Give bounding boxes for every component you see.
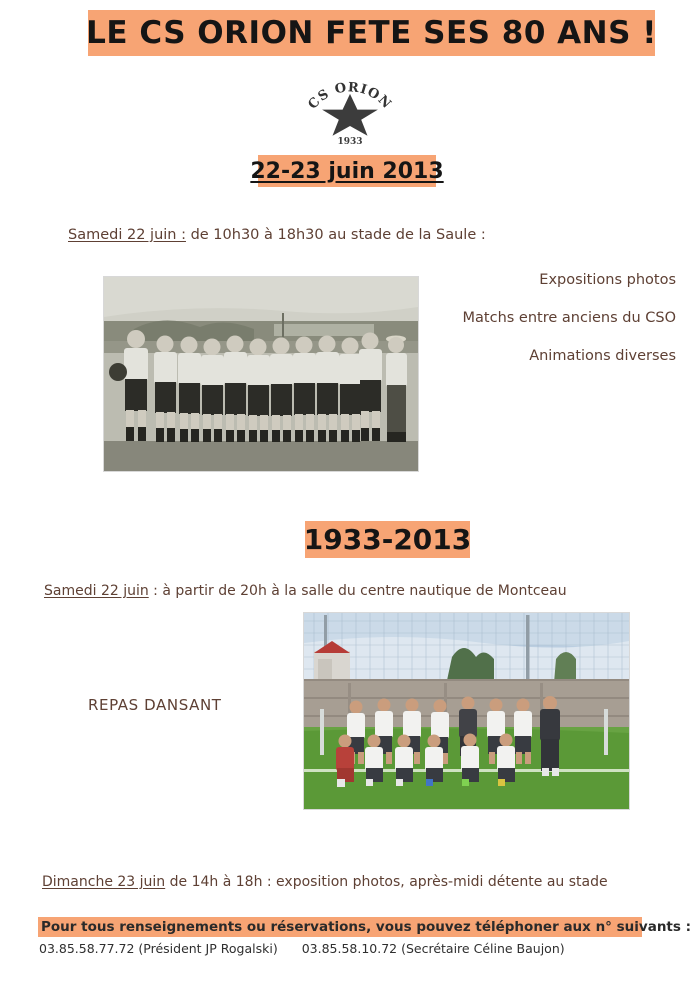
saturday-daytime-line: Samedi 22 juin : de 10h30 à 18h30 au sta…	[68, 227, 486, 243]
logo-founded-year: 1933	[337, 137, 362, 147]
modern-photo-artwork	[304, 613, 629, 809]
page-title: LE CS ORION FETE SES 80 ANS !	[86, 15, 657, 51]
club-logo: CS ORION 1933	[298, 72, 402, 148]
phone-numbers: 03.85.58.77.72 (Président JP Rogalski)03…	[39, 941, 565, 956]
saturday-daytime-lead: Samedi 22 juin :	[68, 227, 186, 243]
sunday-detail: de 14h à 18h : exposition photos, après-…	[165, 874, 607, 890]
date-banner: 22-23 juin 2013	[258, 155, 436, 187]
contact-banner: Pour tous renseignements ou réservations…	[38, 917, 642, 937]
anniversary-years: 1933-2013	[304, 523, 471, 556]
sunday-line: Dimanche 23 juin de 14h à 18h : expositi…	[42, 874, 608, 890]
activity-item: Animations diverses	[360, 348, 676, 364]
poster-root: LE CS ORION FETE SES 80 ANS ! CS ORION 1…	[0, 0, 700, 990]
saturday-evening-line: Samedi 22 juin : à partir de 20h à la sa…	[44, 583, 567, 599]
saturday-evening-lead: Samedi 22 juin	[44, 583, 149, 599]
sunday-lead: Dimanche 23 juin	[42, 874, 165, 890]
saturday-evening-detail: : à partir de 20h à la salle du centre n…	[149, 583, 567, 599]
saturday-daytime-detail: de 10h30 à 18h30 au stade de la Saule :	[186, 227, 486, 243]
contact-banner-text: Pour tous renseignements ou réservations…	[41, 919, 691, 935]
phone-secretary: 03.85.58.10.72 (Secrétaire Céline Baujon…	[302, 941, 565, 956]
activities-list: Expositions photos Matchs entre anciens …	[360, 272, 676, 364]
logo-artwork: CS ORION 1933	[298, 72, 402, 148]
anniversary-banner: 1933-2013	[305, 521, 470, 558]
phone-president: 03.85.58.77.72 (Président JP Rogalski)	[39, 941, 278, 956]
activity-item: Matchs entre anciens du CSO	[360, 310, 676, 326]
event-dates: 22-23 juin 2013	[250, 159, 443, 184]
modern-team-photo	[303, 612, 630, 810]
headline-banner: LE CS ORION FETE SES 80 ANS !	[88, 10, 655, 56]
activity-item: Expositions photos	[360, 272, 676, 288]
repas-dansant-label: REPAS DANSANT	[88, 696, 222, 714]
